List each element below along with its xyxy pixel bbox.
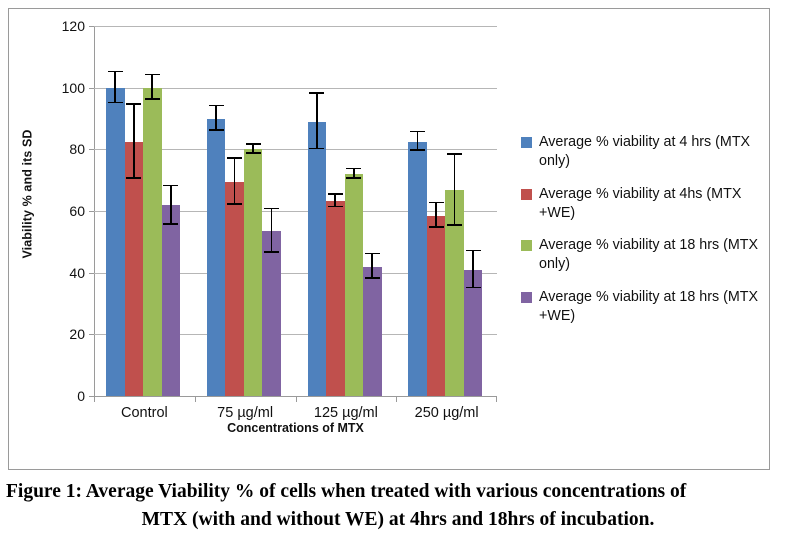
bar-group — [94, 26, 195, 396]
legend-item[interactable]: Average % viability at 18 hrs (MTX only) — [521, 236, 761, 274]
error-bar-stem — [271, 209, 273, 252]
bar[interactable] — [345, 174, 364, 396]
error-bar-cap-bottom — [365, 277, 380, 279]
error-bar-cap-top — [163, 185, 178, 187]
error-bar-stem — [417, 132, 419, 151]
error-bar-cap-top — [309, 92, 324, 94]
error-bar-cap-bottom — [145, 98, 160, 100]
bar[interactable] — [125, 142, 144, 396]
bar[interactable] — [308, 122, 327, 396]
y-axis-title-label: Viability % and its SD — [21, 129, 35, 258]
error-bar-cap-bottom — [209, 129, 224, 131]
plot-area: 020406080100120 Control75 µg/ml125 µg/ml… — [94, 26, 497, 396]
figure-caption-line-1: Figure 1: Average Viability % of cells w… — [0, 478, 796, 506]
error-bar-cap-top — [264, 208, 279, 210]
error-bar-stem — [114, 72, 116, 103]
bar[interactable] — [408, 142, 427, 396]
y-axis-title: Viability % and its SD — [5, 9, 51, 379]
legend-label: Average % viability at 18 hrs (MTX +WE) — [539, 288, 761, 326]
legend-label: Average % viability at 18 hrs (MTX only) — [539, 236, 761, 274]
legend-label: Average % viability at 4hs (MTX +WE) — [539, 185, 761, 223]
bar-group — [396, 26, 497, 396]
error-bar-cap-bottom — [126, 177, 141, 179]
error-bar-cap-bottom — [264, 251, 279, 253]
error-bar-stem — [234, 159, 236, 205]
y-tick-label: 0 — [77, 388, 85, 404]
error-bar-stem — [316, 94, 318, 150]
y-tick-label: 80 — [69, 141, 85, 157]
y-tick-label: 100 — [62, 80, 85, 96]
error-bar-cap-bottom — [466, 287, 481, 289]
error-bar-stem — [472, 251, 474, 288]
error-bar-cap-bottom — [328, 206, 343, 208]
y-tick-label: 20 — [69, 326, 85, 342]
bar[interactable] — [225, 182, 244, 396]
bar[interactable] — [106, 88, 125, 396]
chart-legend: Average % viability at 4 hrs (MTX only)A… — [521, 133, 761, 340]
error-bar-stem — [435, 203, 437, 228]
error-bar-cap-top — [145, 74, 160, 76]
error-bar-stem — [133, 105, 135, 179]
bar[interactable] — [427, 216, 446, 396]
error-bar-cap-bottom — [410, 149, 425, 151]
error-bar-cap-top — [346, 168, 361, 170]
legend-item[interactable]: Average % viability at 4 hrs (MTX only) — [521, 133, 761, 171]
bar[interactable] — [326, 201, 345, 396]
x-tick-mark — [94, 396, 95, 402]
x-tick-mark — [195, 396, 196, 402]
figure-caption-line-2: MTX (with and without WE) at 4hrs and 18… — [0, 506, 796, 534]
y-tick-label: 60 — [69, 203, 85, 219]
bar[interactable] — [162, 205, 181, 396]
legend-item[interactable]: Average % viability at 4hs (MTX +WE) — [521, 185, 761, 223]
error-bar-cap-top — [328, 193, 343, 195]
error-bar-cap-top — [410, 131, 425, 133]
error-bar-stem — [151, 75, 153, 100]
bar[interactable] — [207, 119, 226, 397]
error-bar-cap-top — [227, 157, 242, 159]
x-tick-mark — [396, 396, 397, 402]
y-tick-label: 120 — [62, 18, 85, 34]
y-tick-label: 40 — [69, 265, 85, 281]
error-bar-cap-top — [429, 202, 444, 204]
legend-item[interactable]: Average % viability at 18 hrs (MTX +WE) — [521, 288, 761, 326]
error-bar-cap-top — [447, 153, 462, 155]
error-bar-cap-top — [365, 253, 380, 255]
error-bar-cap-bottom — [227, 203, 242, 205]
error-bar-cap-top — [209, 105, 224, 107]
error-bar-cap-top — [466, 250, 481, 252]
error-bar-cap-top — [108, 71, 123, 73]
error-bar-cap-bottom — [346, 177, 361, 179]
bar-group — [296, 26, 397, 396]
bar-group — [195, 26, 296, 396]
bar[interactable] — [244, 149, 263, 396]
error-bar-stem — [215, 106, 217, 131]
x-tick-label: Control — [94, 405, 195, 421]
error-bar-cap-bottom — [447, 224, 462, 226]
error-bar-cap-bottom — [429, 226, 444, 228]
error-bar-cap-top — [126, 103, 141, 105]
bar[interactable] — [262, 231, 281, 396]
bar[interactable] — [363, 267, 382, 397]
error-bar-cap-top — [246, 143, 261, 145]
legend-swatch-icon — [521, 292, 532, 303]
x-tick-mark — [296, 396, 297, 402]
legend-swatch-icon — [521, 189, 532, 200]
x-tick-label: 250 µg/ml — [396, 405, 497, 421]
error-bar-stem — [454, 155, 456, 226]
error-bar-cap-bottom — [108, 102, 123, 104]
error-bar-cap-bottom — [309, 148, 324, 150]
error-bar-cap-bottom — [163, 223, 178, 225]
error-bar-stem — [371, 254, 373, 279]
bar[interactable] — [143, 88, 162, 396]
x-tick-mark — [496, 396, 497, 402]
x-axis-title: Concentrations of MTX — [94, 421, 497, 435]
bar[interactable] — [464, 270, 483, 396]
figure-caption: Figure 1: Average Viability % of cells w… — [0, 478, 796, 533]
error-bar-stem — [170, 186, 172, 224]
legend-swatch-icon — [521, 137, 532, 148]
legend-label: Average % viability at 4 hrs (MTX only) — [539, 133, 761, 171]
x-tick-label: 125 µg/ml — [296, 405, 397, 421]
legend-swatch-icon — [521, 240, 532, 251]
chart-container: Viability % and its SD 020406080100120 C… — [8, 8, 770, 470]
error-bar-cap-bottom — [246, 152, 261, 154]
x-tick-label: 75 µg/ml — [195, 405, 296, 421]
